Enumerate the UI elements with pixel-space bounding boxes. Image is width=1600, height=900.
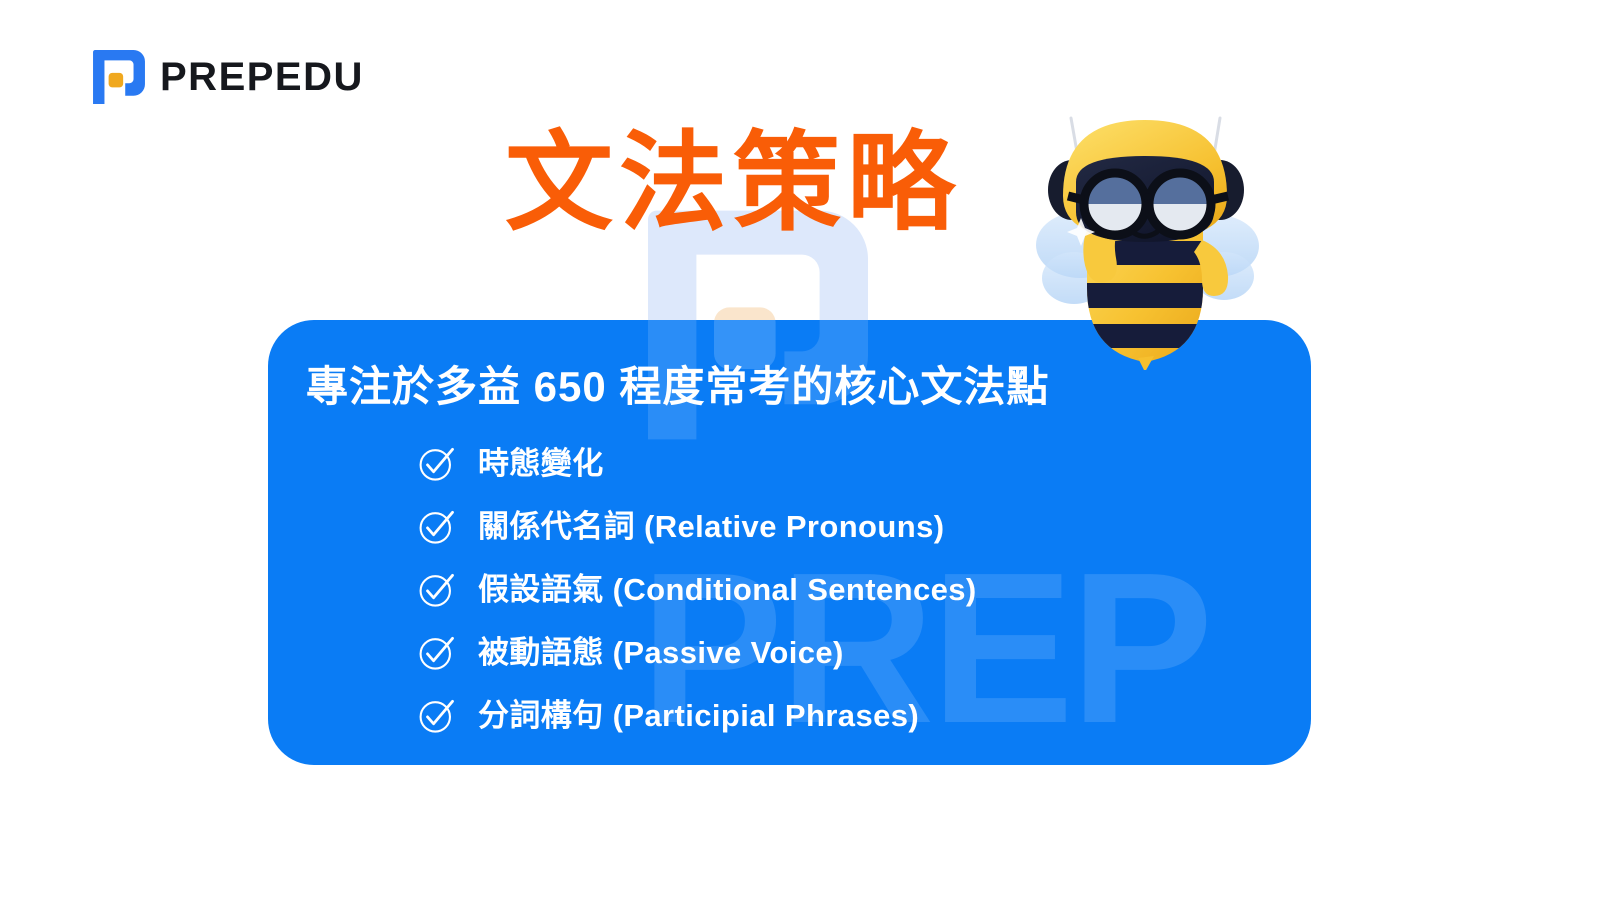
list-item: 時態變化 [418, 432, 1278, 495]
check-circle-icon [418, 697, 456, 735]
check-circle-icon [418, 571, 456, 609]
list-item: 分詞構句 (Participial Phrases) [418, 684, 1278, 747]
list-item-label: 假設語氣 (Conditional Sentences) [478, 571, 977, 608]
check-circle-icon [418, 634, 456, 672]
prepedu-square-logo-icon [92, 50, 146, 104]
page-title: 文法策略 [505, 126, 961, 239]
list-item: 被動語態 (Passive Voice) [418, 621, 1278, 684]
list-item: 假設語氣 (Conditional Sentences) [418, 558, 1278, 621]
list-item-label: 時態變化 [478, 445, 604, 482]
grammar-points-list: 時態變化 關係代名詞 (Relative Pronouns) 假設語氣 (Con… [418, 432, 1278, 747]
list-item-label: 被動語態 (Passive Voice) [478, 634, 844, 671]
list-item-label: 關係代名詞 (Relative Pronouns) [478, 508, 944, 545]
brand-logo[interactable]: PREPEDU [92, 50, 364, 104]
list-item: 關係代名詞 (Relative Pronouns) [418, 495, 1278, 558]
brand-logo-text: PREPEDU [160, 57, 364, 97]
check-circle-icon [418, 445, 456, 483]
slide-canvas: PREP PREPEDU 文法策略 [0, 0, 1600, 900]
bee-mascot-icon [1012, 100, 1277, 370]
card-title: 專注於多益 650 程度常考的核心文法點 [306, 362, 1049, 412]
list-item-label: 分詞構句 (Participial Phrases) [478, 697, 919, 734]
check-circle-icon [418, 508, 456, 546]
highlight-card: PREP 專注於多益 650 程度常考的核心文法點 時態變化 [268, 320, 1311, 765]
